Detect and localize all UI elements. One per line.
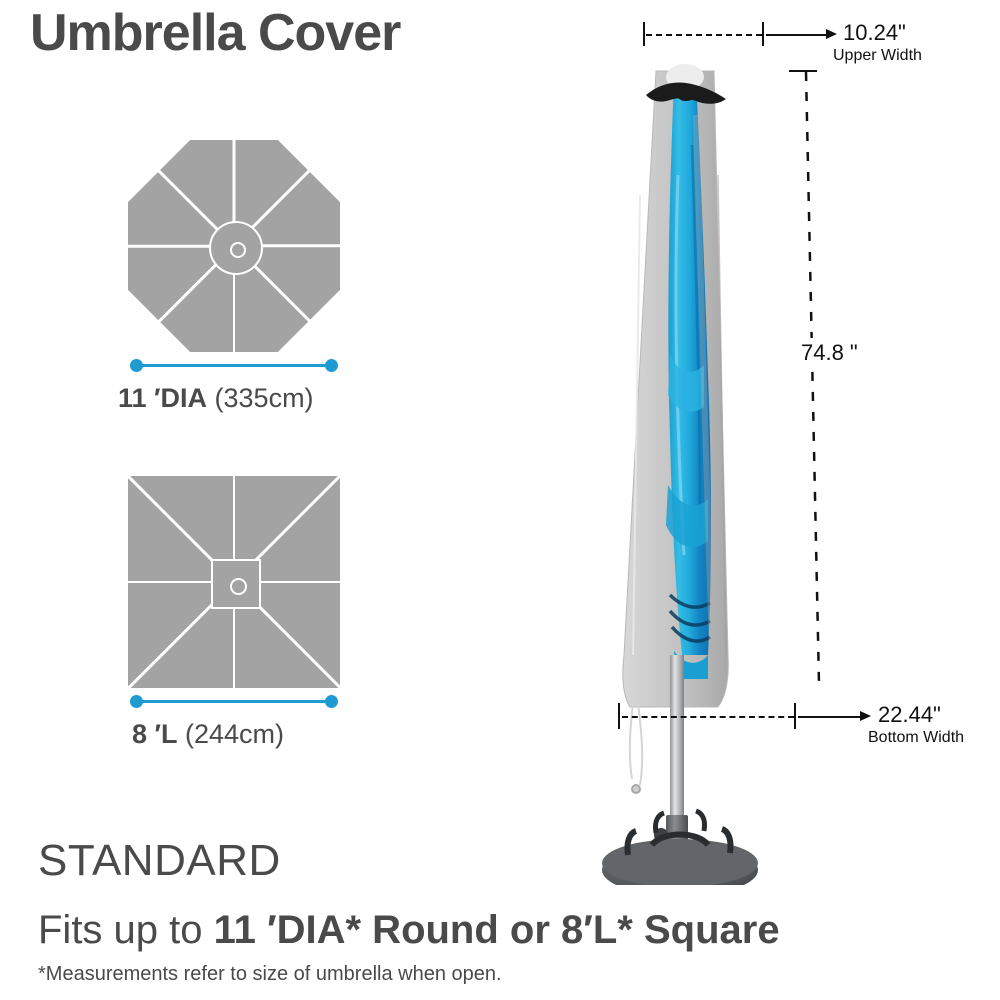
fits-sizes: 11 ′DIA* Round or 8′L* Square [214,908,780,952]
fits-prefix: Fits up to [38,908,214,952]
round-size-value: 11 ′DIA [118,383,207,413]
drawstring [630,695,642,793]
fits-up-to-line: Fits up to 11 ′DIA* Round or 8′L* Square [38,908,780,953]
bottom-width-dash-line [622,716,794,718]
square-size-metric: (244cm) [185,719,284,749]
upper-width-label: Upper Width [833,47,922,65]
measure-dot-right [325,695,338,708]
square-measure-bar [130,694,338,708]
upper-width-arrow-line [766,34,828,36]
measure-line [137,364,331,367]
upper-width-dash-line [646,34,762,36]
measurement-footnote: *Measurements refer to size of umbrella … [38,963,502,986]
measure-line [137,700,331,703]
round-measure-bar [130,358,338,372]
upper-width-tick-right [762,22,764,46]
bottom-width-label: Bottom Width [868,729,964,747]
round-size-caption: 11 ′DIA (335cm) [118,383,314,414]
measure-dot-right [325,359,338,372]
upper-width-arrow-head [826,29,837,39]
height-dash-line [780,72,840,684]
square-umbrella-diagram [128,476,340,688]
measure-dot-left [130,359,143,372]
page-title: Umbrella Cover [30,2,550,64]
height-value: 74.8 " [795,338,864,368]
measure-dot-left [130,695,143,708]
bottom-width-value: 22.44" [878,702,941,728]
bottom-width-arrow-head [860,711,871,721]
round-umbrella-diagram [128,140,340,352]
bottom-width-tick-right [794,703,796,729]
upper-width-value: 10.24" [843,20,906,46]
square-size-value: 8 ′L [132,719,177,749]
square-size-caption: 8 ′L (244cm) [132,719,284,750]
umbrella-hub-icon [211,559,261,609]
bottom-width-tick-left [618,703,620,729]
umbrella-hub-icon [209,221,263,275]
upper-width-tick-left [643,22,645,46]
standard-label: STANDARD [38,836,281,886]
bottom-width-arrow-line [798,716,862,718]
round-size-metric: (335cm) [215,383,314,413]
